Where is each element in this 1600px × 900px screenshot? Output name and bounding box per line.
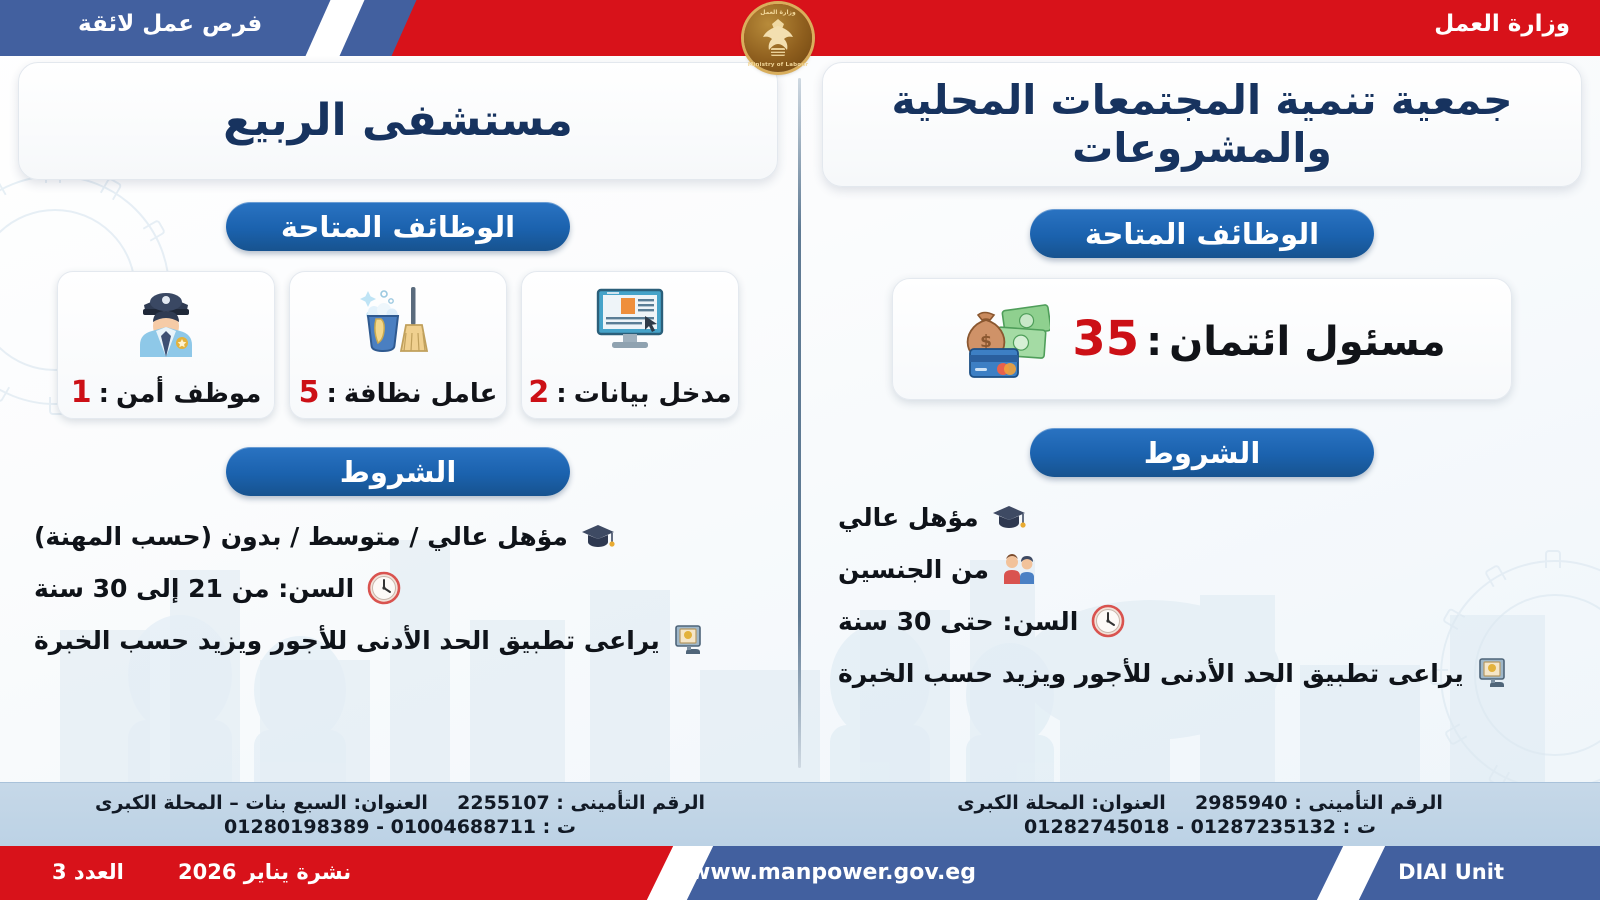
- job-count: 2: [528, 375, 549, 410]
- job-card[interactable]: عامل نظافة : 5: [289, 271, 507, 419]
- condition-text: مؤهل عالي / متوسط / بدون (حسب المهنة): [34, 522, 568, 551]
- job-label: موظف أمن : 1: [71, 375, 262, 410]
- conditions-heading: الشروط: [1030, 428, 1374, 477]
- issue-number: العدد 3: [52, 860, 124, 884]
- job-card[interactable]: موظف أمن : 1: [57, 271, 275, 419]
- job-card[interactable]: مدخل بيانات : 2: [521, 271, 739, 419]
- condition-text: السن: من 21 إلى 30 سنة: [34, 574, 354, 603]
- website-link[interactable]: www.manpower.gov.eg: [690, 860, 976, 885]
- phone-label: ت :: [1343, 816, 1376, 838]
- job-count: 35: [1072, 311, 1139, 367]
- contact-strip: الرقم التأمينى : 2985940 العنوان: المحلة…: [0, 782, 1600, 846]
- condition-item: من الجنسين: [838, 551, 1037, 587]
- unit-name: DIAI Unit: [1398, 860, 1504, 884]
- address-value: المحلة الكبرى: [957, 792, 1085, 814]
- graduation-cap-icon: [991, 499, 1027, 535]
- phone-numbers: 01004688711 - 01280198389: [224, 816, 536, 838]
- tagline-text: فرص عمل لائقة: [78, 11, 262, 37]
- job-label: مسئول ائتمان : 35: [1072, 311, 1445, 367]
- ministry-emblem-icon: وزارة العمل Ministry of Labour: [744, 4, 812, 72]
- organization-panel-hospital: مستشفى الربيع الوظائف المتاحة: [18, 62, 778, 658]
- job-card[interactable]: مسئول ائتمان : 35: [892, 278, 1512, 400]
- bottom-banner: العدد 3 نشرة يناير 2026 www.manpower.gov…: [0, 846, 1600, 900]
- condition-text: يراعى تطبيق الحد الأدنى للأجور ويزيد حسب…: [34, 626, 660, 655]
- org-title-text: مستشفى الربيع: [223, 95, 573, 146]
- graduation-cap-icon: [580, 518, 616, 554]
- available-jobs-heading: الوظائف المتاحة: [226, 202, 570, 251]
- job-count: 5: [299, 375, 320, 410]
- wage-board-icon: [672, 622, 708, 658]
- poster-root: فرص عمل لائقة وزارة العمل وزارة العمل Mi…: [0, 0, 1600, 900]
- job-label: عامل نظافة : 5: [299, 375, 498, 410]
- condition-text: السن: حتى 30 سنة: [838, 607, 1078, 636]
- job-count: 1: [71, 375, 92, 410]
- job-title: مدخل بيانات: [574, 379, 732, 409]
- insurance-number: 2985940: [1195, 792, 1288, 814]
- computer-monitor-icon: [593, 282, 667, 360]
- column-divider: [798, 78, 801, 768]
- eagle-of-saladin-icon: [758, 15, 798, 61]
- conditions-heading: الشروط: [226, 447, 570, 496]
- address-value: السبع بنات – المحلة الكبرى: [95, 792, 347, 814]
- org-title-card: جمعية تنمية المجتمعات المحلية والمشروعات: [822, 62, 1582, 187]
- condition-item: يراعى تطبيق الحد الأدنى للأجور ويزيد حسب…: [838, 655, 1512, 691]
- contact-line-phones: ت : 01287235132 - 01282745018: [1024, 816, 1376, 838]
- conditions-list: مؤهل عالي / متوسط / بدون (حسب المهنة) ال…: [18, 518, 778, 658]
- phone-label: ت :: [543, 816, 576, 838]
- address-label: العنوان:: [354, 792, 428, 814]
- job-label: مدخل بيانات : 2: [528, 375, 731, 410]
- insurance-label: الرقم التأمينى :: [556, 792, 705, 814]
- condition-text: من الجنسين: [838, 555, 989, 584]
- contact-line-primary: الرقم التأمينى : 2985940 العنوان: المحلة…: [957, 792, 1443, 814]
- contact-line-primary: الرقم التأمينى : 2255107 العنوان: السبع …: [95, 792, 705, 814]
- bucket-broom-icon: [360, 282, 436, 360]
- contact-block-association: الرقم التأمينى : 2255107 العنوان: السبع …: [0, 783, 800, 846]
- job-title: مسئول ائتمان: [1169, 319, 1446, 365]
- job-title: عامل نظافة: [344, 379, 498, 409]
- conditions-list: مؤهل عالي من الجنسين: [822, 499, 1582, 691]
- clock-icon: [1090, 603, 1126, 639]
- condition-item: السن: من 21 إلى 30 سنة: [34, 570, 402, 606]
- insurance-number: 2255107: [457, 792, 550, 814]
- condition-text: مؤهل عالي: [838, 503, 979, 532]
- contact-line-phones: ت : 01004688711 - 01280198389: [224, 816, 576, 838]
- org-title-text: جمعية تنمية المجتمعات المحلية والمشروعات: [849, 77, 1555, 172]
- address-label: العنوان:: [1091, 792, 1165, 814]
- emblem-caption-top: وزارة العمل: [744, 9, 812, 16]
- job-title: موظف أمن: [116, 379, 261, 409]
- condition-item: يراعى تطبيق الحد الأدنى للأجور ويزيد حسب…: [34, 622, 708, 658]
- topbar-red-band: [360, 0, 1600, 56]
- available-jobs-heading: الوظائف المتاحة: [1030, 209, 1374, 258]
- insurance-label: الرقم التأمينى :: [1294, 792, 1443, 814]
- condition-text: يراعى تطبيق الحد الأدنى للأجور ويزيد حسب…: [838, 659, 1464, 688]
- phone-numbers: 01287235132 - 01282745018: [1024, 816, 1336, 838]
- wage-board-icon: [1476, 655, 1512, 691]
- contact-block-hospital: الرقم التأمينى : 2985940 العنوان: المحلة…: [800, 783, 1600, 846]
- emblem-caption-bottom: Ministry of Labour: [744, 62, 812, 68]
- condition-item: مؤهل عالي: [838, 499, 1027, 535]
- condition-item: مؤهل عالي / متوسط / بدون (حسب المهنة): [34, 518, 616, 554]
- org-title-card: مستشفى الربيع: [18, 62, 778, 180]
- bulletin-label: نشرة يناير 2026: [178, 860, 351, 884]
- condition-item: السن: حتى 30 سنة: [838, 603, 1126, 639]
- organization-panel-association: جمعية تنمية المجتمعات المحلية والمشروعات…: [822, 62, 1582, 691]
- money-bag-cash-card-icon: $: [958, 300, 1050, 378]
- two-persons-icon: [1001, 551, 1037, 587]
- ministry-name-text: وزارة العمل: [1434, 11, 1570, 37]
- jobs-row: مدخل بيانات : 2: [18, 271, 778, 419]
- clock-icon: [366, 570, 402, 606]
- security-guard-icon: [130, 282, 202, 360]
